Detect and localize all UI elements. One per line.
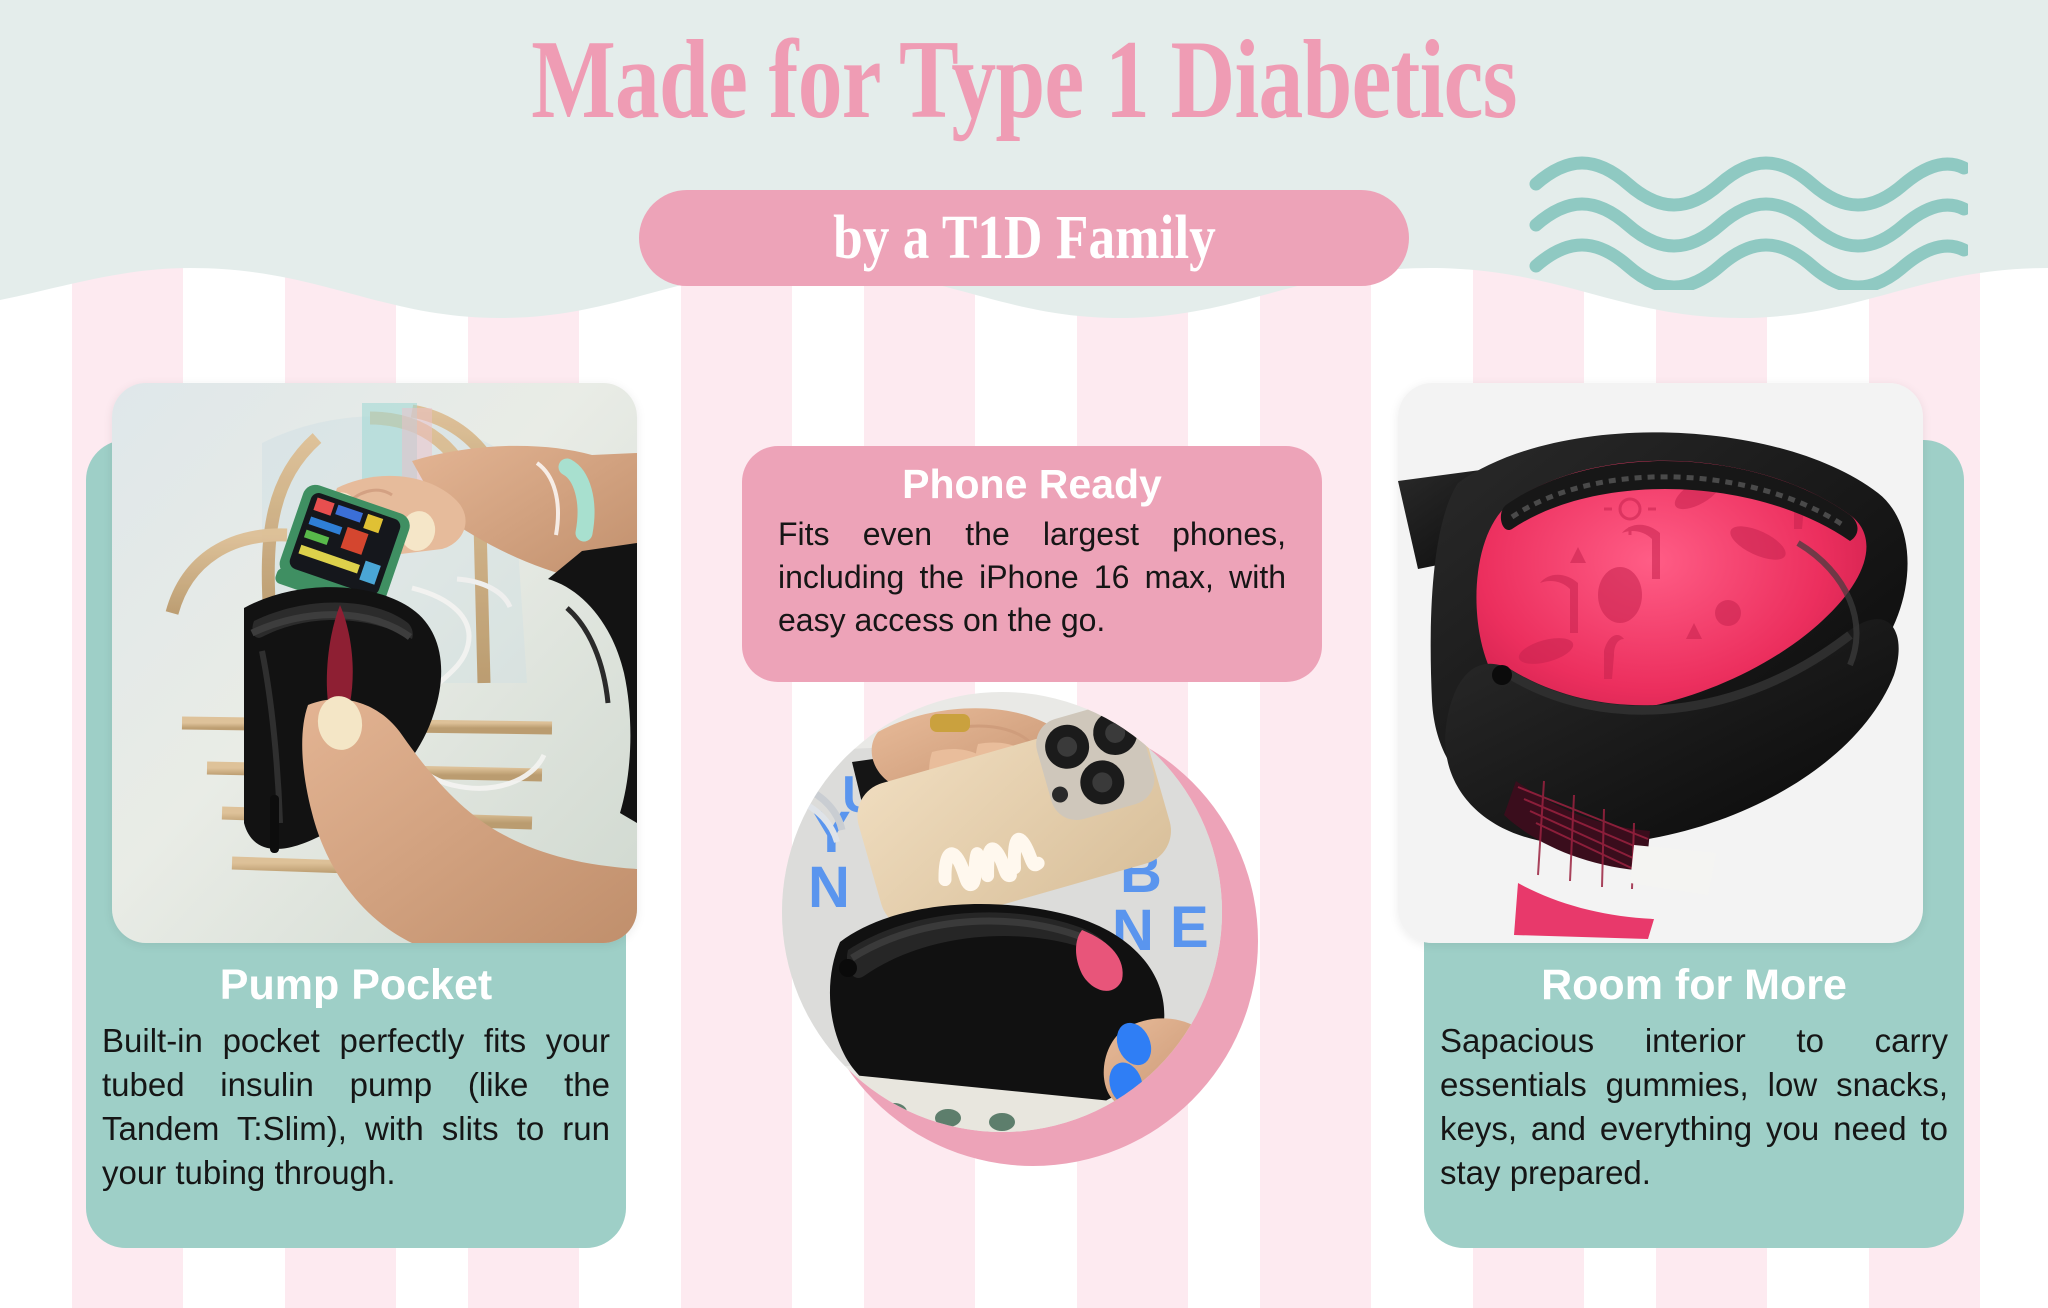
svg-text:E: E (1170, 895, 1209, 960)
phone-ready-illustration: Y N U B N E B (782, 692, 1222, 1132)
photo-phone-ready: Y N U B N E B (782, 692, 1222, 1132)
pump-pocket-illustration (112, 383, 637, 943)
caption-pump-pocket: Pump Pocket Built-in pocket perfectly fi… (86, 962, 626, 1195)
subtitle-text: by a T1D Family (833, 207, 1216, 269)
feature-heading-pump-pocket: Pump Pocket (102, 962, 610, 1009)
photo-pump-pocket (112, 383, 637, 943)
header-band: Made for Type 1 Diabetics by a T1D Famil… (0, 0, 2048, 340)
room-for-more-illustration (1398, 383, 1923, 943)
wavy-lines-icon (1528, 150, 1968, 290)
page-title: Made for Type 1 Diabetics (205, 22, 1843, 138)
feature-heading-phone-ready: Phone Ready (778, 462, 1286, 507)
subtitle-badge: by a T1D Family (639, 190, 1409, 286)
feature-body-pump-pocket: Built-in pocket perfectly fits your tube… (102, 1019, 610, 1195)
svg-text:N: N (808, 855, 850, 920)
feature-body-phone-ready: Fits even the largest phones, including … (778, 513, 1286, 642)
feature-card-phone-ready: Phone Ready Fits even the largest phones… (742, 446, 1322, 682)
caption-room-for-more: Room for More Sapacious interior to carr… (1424, 962, 1964, 1195)
feature-body-room-for-more: Sapacious interior to carry essentials g… (1440, 1019, 1948, 1195)
photo-room-for-more (1398, 383, 1923, 943)
feature-heading-room-for-more: Room for More (1440, 962, 1948, 1009)
